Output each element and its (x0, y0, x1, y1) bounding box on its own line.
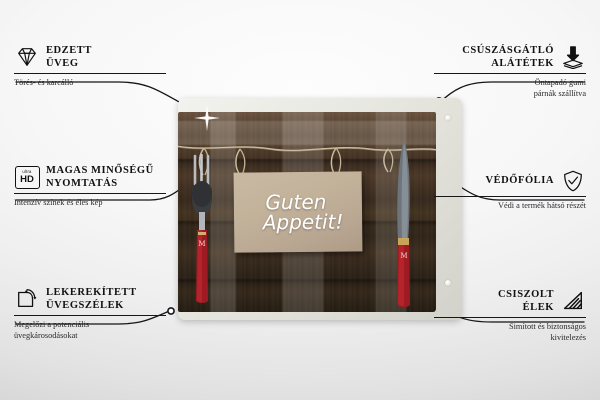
feature-header: CSÚSZÁSGÁTLÓ ALÁTÉTEK (434, 44, 586, 73)
feature-subtitle-line2: párnák szállítva (534, 89, 586, 98)
feature-title-line2: NYOMTATÁS (46, 177, 154, 190)
ultra-hd-icon: ultra HD (14, 164, 40, 190)
feature-subtitle: Öntapadó gumi párnák szállítva (434, 74, 586, 99)
hatched-triangle-icon (560, 288, 586, 314)
svg-text:M: M (400, 252, 407, 260)
feature-title: CSISZOLT ÉLEK (498, 288, 554, 315)
feature-subtitle: Törés- és karcálló (14, 74, 166, 88)
feature-title: VÉDŐFÓLIA (485, 174, 554, 187)
rounded-corner-icon (14, 286, 40, 312)
feature-header: EDZETT ÜVEG (14, 44, 166, 73)
feature-title-line1: CSÚSZÁSGÁTLÓ (462, 44, 554, 57)
feature-tempered-glass: EDZETT ÜVEG Törés- és karcálló (14, 44, 166, 88)
feature-title-line1: VÉDŐFÓLIA (485, 174, 554, 187)
feature-rounded-edges: LEKEREKÍTETT ÜVEGSZÉLEK Megelőzi a poten… (14, 286, 166, 341)
feature-subtitle-line2: kivitelezés (551, 333, 586, 342)
product-image: Guten Appetit! M (178, 98, 462, 320)
cardboard-sign: Guten Appetit! (234, 171, 363, 252)
feature-protect-foil: VÉDŐFÓLIA Védi a termék hátsó részét (434, 168, 586, 211)
feature-header: VÉDŐFÓLIA (434, 168, 586, 196)
feature-header: CSISZOLT ÉLEK (434, 288, 586, 317)
rubber-pad-top-right (445, 115, 451, 121)
feature-title-line1: EDZETT (46, 44, 92, 57)
rubber-pad-bottom-right (445, 280, 451, 286)
shield-check-icon (560, 168, 586, 194)
feature-hd-print: ultra HD MAGAS MINŐSÉGŰ NYOMTATÁS Intenz… (14, 164, 166, 208)
feature-subtitle: Simított és biztonságos kivitelezés (434, 318, 586, 343)
product-infographic: Guten Appetit! M (0, 0, 600, 400)
feature-subtitle: Védi a termék hátsó részét (434, 197, 586, 211)
arrow-down-pads-icon (560, 44, 586, 70)
feature-title-line1: LEKEREKÍTETT (46, 286, 137, 299)
feature-sanded-edges: CSISZOLT ÉLEK Simított és biztonságos k (434, 288, 586, 343)
feature-header: ultra HD MAGAS MINŐSÉGŰ NYOMTATÁS (14, 164, 166, 193)
diamond-icon (14, 44, 40, 70)
feature-anti-slip: CSÚSZÁSGÁTLÓ ALÁTÉTEK Öntapadó gumi párn… (434, 44, 586, 99)
sign-text-line2: Appetit! (263, 212, 344, 233)
feature-subtitle-line1: Megelőzi a potenciális (14, 320, 89, 329)
feature-title-line1: CSISZOLT (498, 288, 554, 301)
svg-text:M: M (198, 240, 205, 248)
feature-title: LEKEREKÍTETT ÜVEGSZÉLEK (46, 286, 137, 313)
feature-subtitle: Intenzív színek és éles kép (14, 194, 166, 208)
feature-subtitle-line1: Simított és biztonságos (509, 322, 586, 331)
fork-utensil: M (186, 154, 220, 306)
feature-subtitle-line2: üvegkárosodásokat (14, 331, 78, 340)
feature-title-line2: ÜVEGSZÉLEK (46, 299, 137, 312)
feature-subtitle: Megelőzi a potenciális üvegkárosodásokat (14, 316, 166, 341)
knife-utensil: M (388, 138, 418, 310)
connector-endpoint-rounded-edges (168, 308, 174, 314)
printed-design-area: Guten Appetit! M (178, 112, 436, 312)
sign-text: Guten Appetit! (234, 171, 363, 252)
feature-title: MAGAS MINŐSÉGŰ NYOMTATÁS (46, 164, 154, 191)
feature-header: LEKEREKÍTETT ÜVEGSZÉLEK (14, 286, 166, 315)
feature-title: CSÚSZÁSGÁTLÓ ALÁTÉTEK (462, 44, 554, 71)
feature-subtitle-line1: Öntapadó gumi (535, 78, 586, 87)
feature-title: EDZETT ÜVEG (46, 44, 92, 71)
ultra-hd-icon-main-label: HD (20, 175, 34, 185)
feature-title-line1: MAGAS MINŐSÉGŰ (46, 164, 154, 177)
feature-title-line2: ALÁTÉTEK (462, 57, 554, 70)
feature-title-line2: ÜVEG (46, 57, 92, 70)
feature-title-line2: ÉLEK (498, 301, 554, 314)
